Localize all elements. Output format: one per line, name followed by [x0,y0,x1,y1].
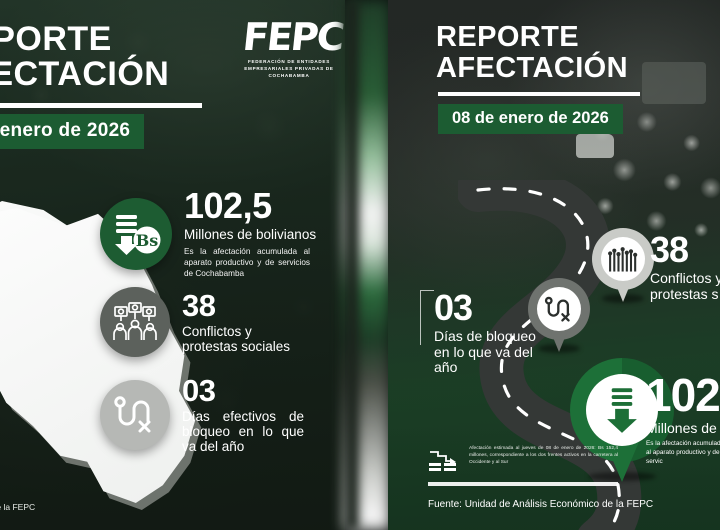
left-stat-conflicts-value: 38 [182,290,302,321]
left-stat-amount: Bs 102,5 Millones de bolivianos Es la af… [100,188,316,279]
right-note-block: Afectación estimada al jueves de 08 de e… [428,445,618,480]
protest-crowd-icon [601,237,645,281]
left-title-line2: AFECTACIÓN [0,57,254,92]
panel-seam-edge [345,0,359,530]
right-page-title: REPORTE AFECTACIÓN [436,22,628,84]
left-stat-conflicts: 38 Conflictos y protestas sociales [100,287,302,357]
right-stat-blockade-value: 03 [434,290,554,326]
left-date-text: 08 de enero de 2026 [0,120,130,142]
svg-text:Bs: Bs [136,231,159,250]
left-date-badge: 08 de enero de 2026 [0,114,144,149]
left-stat-conflicts-text: 38 Conflictos y protestas sociales [182,290,302,354]
right-note-rule [428,482,618,486]
left-title-rule [0,103,202,108]
right-source-caption: Fuente: Unidad de Análisis Económico de … [428,499,653,510]
left-report-panel: REPORTE AFECTACIÓN 08 de enero de 2026 F… [0,0,345,530]
left-stat-blockade-lead: Días efectivos de bloqueo en lo que va d… [182,409,304,454]
right-stat-blockade-days: 03 Días de bloqueo en lo que va del año [420,290,554,376]
left-stat-amount-value: 102,5 [184,188,316,224]
road-blocked-icon [100,380,170,450]
right-date-text: 08 de enero de 2026 [452,109,609,128]
protest-crowd-icon [100,287,170,357]
right-title-rule [438,92,640,96]
left-stat-blockade-days: 03 Días efectivos de bloqueo en lo que v… [100,375,304,454]
right-stat-blockade-lead: Días de bloqueo en lo que va del año [434,329,554,376]
right-date-badge: 08 de enero de 2026 [438,104,623,134]
left-source-caption: álisis Económico de la FEPC [0,502,35,512]
right-title-line2: AFECTACIÓN [436,53,628,84]
left-stat-blockade-value: 03 [182,375,304,406]
right-stat-amount: 102, Millones de l Es la afectación acum… [646,372,720,467]
right-stat-conflicts-value: 38 [650,232,720,268]
fepc-logo: FEPC FEDERACIÓN DE ENTIDADES EMPRESARIAL… [243,20,335,80]
infographic-stage: REPORTE AFECTACIÓN 08 de enero de 2026 F… [0,0,720,530]
fepc-logo-mark: FEPC [241,20,337,54]
right-title-line1: REPORTE [436,22,628,53]
right-note-text: Afectación estimada al jueves de 08 de e… [469,445,618,467]
bracket-decoration [420,290,434,345]
left-stat-conflicts-lead: Conflictos y protestas sociales [182,324,302,354]
right-stat-amount-desc: Es la afectación acumulada al aparato pr… [646,440,720,467]
decline-bars-icon [428,445,462,480]
left-stat-amount-text: 102,5 Millones de bolivianos Es la afect… [184,188,316,279]
fepc-logo-subtitle: FEDERACIÓN DE ENTIDADES EMPRESARIALES PR… [243,58,335,79]
left-stat-amount-desc: Es la afectación acumulada al aparato pr… [184,246,310,279]
right-stat-amount-lead: Millones de l [646,421,720,437]
map-pin-conflicts [592,228,654,304]
right-stat-conflicts-lead: Conflictos y protestas s [650,271,720,302]
left-stat-blockade-text: 03 Días efectivos de bloqueo en lo que v… [182,375,304,454]
right-stat-conflicts: 38 Conflictos y protestas s [650,232,720,302]
right-stat-amount-value: 102, [646,372,720,418]
left-title-line1: REPORTE [0,20,112,58]
right-report-panel: REPORTE AFECTACIÓN 08 de enero de 2026 [388,0,720,530]
money-down-arrow-icon: Bs [100,198,172,270]
left-page-title: REPORTE AFECTACIÓN [0,22,254,91]
left-stat-amount-lead: Millones de bolivianos [184,227,316,242]
